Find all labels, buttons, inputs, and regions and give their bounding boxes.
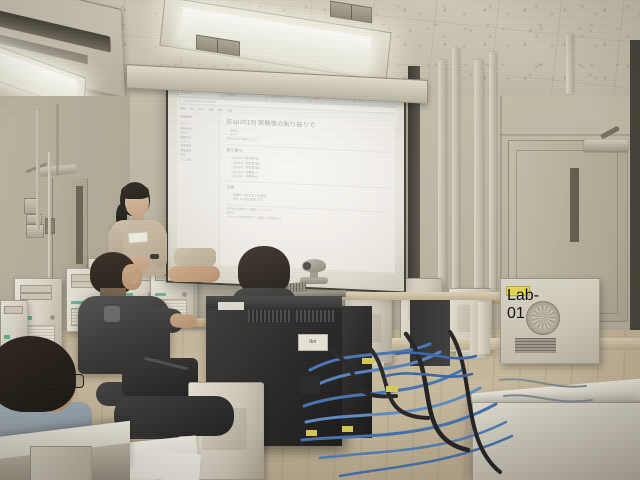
shirt-graphic: [104, 306, 120, 322]
video-conference-camera-icon: [300, 258, 328, 284]
camera-lens-icon: [303, 262, 311, 270]
lecture-room-photo: Exp2019 Scrapbox Google Drive Slack mail…: [0, 0, 640, 480]
bookmark-item[interactable]: 課題: [209, 108, 214, 112]
presenter-hair-front: [121, 184, 149, 199]
cable-tag-yellow: [362, 358, 374, 364]
bookmark-item[interactable]: 資料: [218, 108, 223, 112]
bookmark-item[interactable]: Drive: [199, 108, 205, 111]
equipment-yellow-tag: Lab-01: [506, 286, 530, 296]
bookmark-item[interactable]: Wiki: [190, 108, 195, 111]
network-cable-bundle: [300, 330, 640, 480]
optical-drive-bay[interactable]: [4, 306, 23, 314]
power-button-icon[interactable]: [50, 315, 55, 320]
sidebar-heading: Exp2019: [180, 115, 217, 121]
loose-papers-secondary[interactable]: [129, 450, 201, 480]
presenter-name-badge: [128, 231, 149, 243]
door-handle-icon[interactable]: [570, 168, 579, 242]
wall-conduit-5: [566, 34, 573, 94]
grey-cable: [504, 395, 592, 401]
server-asset-sticker: [218, 302, 244, 310]
data-port-plate-icon[interactable]: [26, 224, 44, 238]
wall-conduit-left: [36, 110, 40, 230]
cable-tag-yellow: [342, 426, 353, 432]
wall-conduit-2: [452, 48, 459, 292]
wall-conduit-4: [489, 52, 496, 292]
door-closer-icon: [584, 140, 628, 151]
student-ear: [130, 272, 139, 284]
bookmark-item[interactable]: 演習: [227, 109, 232, 113]
tower-pc-foreground: [30, 446, 92, 480]
cable-tag-yellow: [306, 430, 317, 436]
ethernet-cable: [386, 373, 472, 376]
eyeglasses-icon: [40, 374, 84, 388]
sidebar-item[interactable]: リンク集: [180, 158, 217, 164]
cable-tag-yellow: [386, 386, 398, 392]
wall-conduit-3: [474, 60, 483, 296]
server-vent-right: [296, 310, 336, 322]
wall-cable-drop: [56, 104, 59, 176]
optical-drive-bay[interactable]: [20, 285, 52, 293]
rear-desk: [320, 292, 520, 300]
bookmark-item[interactable]: 実験: [180, 107, 185, 111]
wall-conduit-1: [438, 60, 446, 292]
server-vent-left: [248, 310, 292, 322]
student-forearm: [169, 313, 196, 330]
student-center-hair: [238, 246, 290, 294]
power-strip: [300, 376, 320, 394]
right-edge-shadow: [630, 40, 640, 340]
grey-cable: [500, 379, 586, 386]
wiki-sidebar: Exp2019 ホーム 実験日程 班分け 課題提出 レポート 参考資料 連絡事項…: [177, 112, 220, 265]
